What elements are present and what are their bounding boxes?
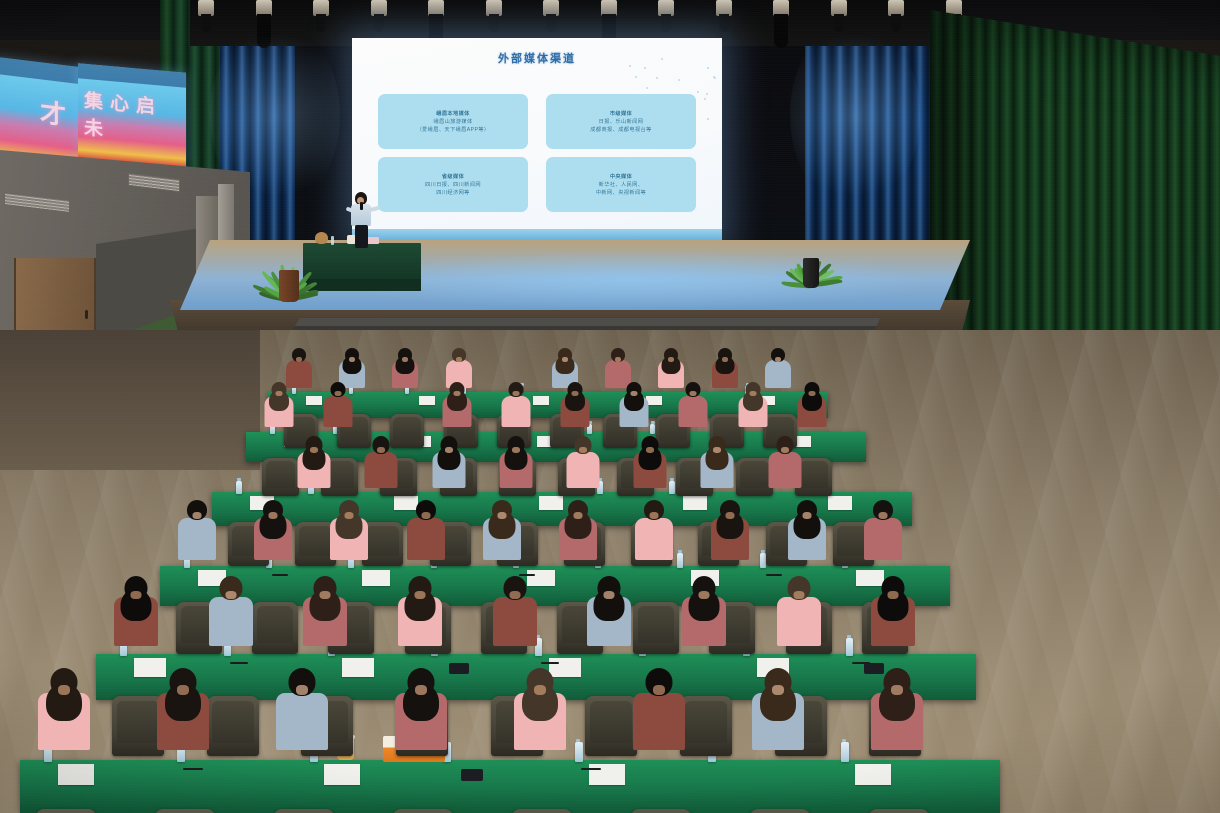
floor-shadow-left	[0, 330, 260, 470]
audience-member	[633, 668, 685, 750]
person-neck	[726, 512, 735, 519]
audience-member	[297, 436, 330, 488]
paper-sheet	[646, 396, 662, 405]
person-neck	[803, 512, 812, 519]
slide-box-line: 中央媒体	[610, 173, 632, 181]
slide-box-grid: 峨眉本地媒体峨眉山旅游媒体（爱峨眉、天下峨眉APP等）市级媒体日报、乐山新闻网成…	[378, 94, 696, 212]
person-neck	[562, 357, 568, 362]
banquet-chair	[274, 809, 334, 813]
stage-light	[599, 0, 619, 30]
person-neck	[193, 512, 202, 519]
banquet-chair	[207, 696, 259, 756]
slide-box-city-media: 市级媒体日报、乐山新闻网成都商报、成都电视台等	[546, 94, 696, 149]
stage-light	[714, 0, 734, 30]
slide-box-line: 峨眉本地媒体	[436, 110, 470, 118]
person-neck	[415, 685, 427, 695]
person-neck	[453, 391, 460, 396]
person-neck	[722, 357, 728, 362]
audience-member	[264, 382, 293, 427]
phone	[449, 663, 469, 674]
person-neck	[646, 447, 654, 453]
stage-light	[484, 0, 504, 30]
person-neck	[269, 512, 278, 519]
audience-member	[700, 436, 733, 488]
water-bottle	[236, 481, 242, 494]
banquet-chair	[362, 522, 403, 566]
audience-member	[738, 382, 767, 427]
audience-member	[276, 668, 328, 750]
audience-member	[364, 436, 397, 488]
conference-table	[20, 760, 1000, 813]
left-banner-screen-2: 集心启未	[78, 63, 186, 168]
banquet-chair	[512, 809, 572, 813]
person-neck	[310, 447, 318, 453]
paper-sheet	[683, 496, 707, 510]
slide-box-line: 四川经济网等	[436, 189, 470, 197]
person-neck	[296, 357, 302, 362]
person-neck	[772, 685, 784, 695]
audience-member	[38, 668, 90, 750]
audience-member	[864, 500, 902, 560]
person-torso	[864, 518, 902, 560]
person-torso	[493, 597, 537, 646]
slide-box-line: 日报、乐山新闻网	[599, 118, 644, 126]
banquet-chair	[393, 809, 453, 813]
water-bottle	[331, 236, 334, 245]
stage-light	[196, 0, 216, 30]
audience-member	[157, 668, 209, 750]
paper-sheet	[324, 764, 360, 785]
stage-light	[369, 0, 389, 30]
person-neck	[512, 447, 520, 453]
stage-light	[829, 0, 849, 30]
stage-light	[541, 0, 561, 30]
pen	[183, 768, 203, 770]
person-neck	[377, 447, 385, 453]
audience-member	[178, 500, 216, 560]
audience-member	[777, 576, 821, 646]
banquet-chair	[262, 458, 299, 496]
person-neck	[226, 591, 237, 599]
person-neck	[58, 685, 70, 695]
audience-member	[635, 500, 673, 560]
person-neck	[334, 391, 341, 396]
stage-light	[254, 0, 274, 30]
person-neck	[177, 685, 189, 695]
water-bottle	[650, 424, 655, 434]
table-skirt	[303, 279, 421, 291]
audience-member	[871, 668, 923, 750]
person-neck	[320, 591, 331, 599]
plant-pot	[803, 258, 819, 288]
person-neck	[498, 512, 507, 519]
person-torso	[768, 452, 801, 488]
person-torso	[678, 396, 707, 427]
person-torso	[633, 693, 685, 750]
person-neck	[512, 391, 519, 396]
water-bottle	[575, 742, 583, 762]
person-neck	[579, 447, 587, 453]
paper-sheet	[855, 764, 891, 785]
person-neck	[749, 391, 756, 396]
person-neck	[781, 447, 789, 453]
banquet-chair	[750, 809, 810, 813]
person-neck	[349, 357, 355, 362]
audience-member	[392, 348, 418, 388]
audience-member	[768, 436, 801, 488]
slide-box-line: 省级媒体	[442, 173, 464, 181]
stage-light	[771, 0, 791, 30]
slide-title: 外部媒体渠道	[352, 50, 722, 66]
person-neck	[808, 391, 815, 396]
conference-hall-photo: 外部媒体渠道 峨眉本地媒体峨眉山旅游媒体（爱峨眉、天下峨眉APP等）市级媒体日报…	[0, 0, 1220, 813]
audience-member	[432, 436, 465, 488]
presenter-legs	[355, 225, 368, 248]
person-neck	[630, 391, 637, 396]
person-neck	[775, 357, 781, 362]
conference-table	[160, 566, 950, 606]
slide-box-line: 成都商报、成都电视台等	[590, 126, 651, 134]
audience-member	[323, 382, 352, 427]
slide-box-line: 中新网、央视新闻等	[596, 189, 646, 197]
person-neck	[571, 391, 578, 396]
person-neck	[668, 357, 674, 362]
person-torso	[777, 597, 821, 646]
slide-box-local-media: 峨眉本地媒体峨眉山旅游媒体（爱峨眉、天下峨眉APP等）	[378, 94, 528, 149]
water-bottle	[846, 638, 853, 656]
person-torso	[178, 518, 216, 560]
banquet-chair	[36, 809, 96, 813]
person-neck	[456, 357, 462, 362]
audience-member	[501, 382, 530, 427]
audience-member	[483, 500, 521, 560]
person-neck	[275, 391, 282, 396]
person-torso	[566, 452, 599, 488]
person-torso	[635, 518, 673, 560]
audience-member	[788, 500, 826, 560]
person-torso	[364, 452, 397, 488]
audience-member	[711, 500, 749, 560]
audience-member	[797, 382, 826, 427]
audience-member	[398, 576, 442, 646]
paper-sheet	[362, 570, 390, 586]
banquet-chair	[631, 809, 691, 813]
audience-member	[619, 382, 648, 427]
potted-palm-right	[788, 222, 834, 288]
person-neck	[574, 512, 583, 519]
audience-member	[493, 576, 537, 646]
audience-member	[559, 500, 597, 560]
audience-member	[566, 436, 599, 488]
person-neck	[604, 591, 615, 599]
person-neck	[650, 512, 659, 519]
microphone	[360, 202, 363, 210]
presenter	[344, 192, 380, 248]
audience-member	[395, 668, 447, 750]
person-neck	[615, 357, 621, 362]
person-neck	[699, 591, 710, 599]
audience-member	[752, 668, 804, 750]
person-neck	[510, 591, 521, 599]
phone	[461, 769, 483, 781]
audience-member	[678, 382, 707, 427]
person-neck	[131, 591, 142, 599]
audience-member	[712, 348, 738, 388]
person-neck	[296, 685, 308, 695]
paper-sheet	[533, 396, 549, 405]
paper-sheet	[58, 764, 94, 785]
person-torso	[276, 693, 328, 750]
audience-member	[303, 576, 347, 646]
banquet-chair	[585, 696, 637, 756]
person-torso	[407, 518, 445, 560]
slide-box-central-media: 中央媒体新华社、人民网、中新网、央视新闻等	[546, 157, 696, 212]
slide-box-line: 新华社、人民网、	[599, 181, 644, 189]
audience-member	[254, 500, 292, 560]
person-neck	[345, 512, 354, 519]
person-torso	[501, 396, 530, 427]
stage-light	[886, 0, 906, 30]
paper-sheet	[419, 396, 435, 405]
person-neck	[534, 685, 546, 695]
slide-box-line: 市级媒体	[610, 110, 632, 118]
audience-member	[209, 576, 253, 646]
head-table	[303, 243, 421, 281]
stage-light	[311, 0, 331, 30]
audience-member	[499, 436, 532, 488]
slide-box-line: 四川日报、四川新闻网	[425, 181, 481, 189]
banquet-chair	[680, 696, 732, 756]
water-bottle	[841, 742, 849, 762]
pen	[230, 662, 248, 664]
audience-member	[633, 436, 666, 488]
audience-member	[587, 576, 631, 646]
audience-member	[114, 576, 158, 646]
projection-screen: 外部媒体渠道 峨眉本地媒体峨眉山旅游媒体（爱峨眉、天下峨眉APP等）市级媒体日报…	[352, 38, 722, 246]
pen	[541, 662, 559, 664]
audience-member	[765, 348, 791, 388]
banquet-chair	[869, 809, 929, 813]
person-torso	[209, 597, 253, 646]
person-neck	[653, 685, 665, 695]
aux-screen-topbar	[0, 56, 84, 85]
paper-sheet	[306, 396, 322, 405]
person-neck	[891, 685, 903, 695]
audience-member	[871, 576, 915, 646]
audience-member	[514, 668, 566, 750]
person-neck	[794, 591, 805, 599]
audience-member	[330, 500, 368, 560]
plant-pot	[279, 270, 299, 302]
door-handle[interactable]	[85, 310, 88, 319]
slide-box-line: 峨眉山旅游媒体	[433, 118, 472, 126]
stage-light	[426, 0, 446, 30]
person-neck	[888, 591, 899, 599]
audience-member	[407, 500, 445, 560]
banquet-chair	[252, 602, 298, 654]
water-bottle	[677, 553, 683, 568]
paper-sheet	[828, 496, 852, 510]
person-neck	[415, 591, 426, 599]
person-neck	[422, 512, 431, 519]
aux-screen-glyph: 才	[40, 92, 66, 132]
pen	[581, 768, 601, 770]
banquet-chair	[633, 602, 679, 654]
decor-object	[315, 232, 328, 244]
person-neck	[402, 357, 408, 362]
slide-box-line: （爱峨眉、天下峨眉APP等）	[416, 126, 489, 134]
water-bottle	[669, 481, 675, 494]
stage-light	[656, 0, 676, 30]
audience-member	[682, 576, 726, 646]
banquet-chair	[155, 809, 215, 813]
paper-sheet	[342, 658, 374, 677]
audience-member	[442, 382, 471, 427]
aux-screen-glyph: 集心启未	[84, 86, 186, 149]
pen	[272, 574, 288, 576]
person-neck	[713, 447, 721, 453]
person-neck	[689, 391, 696, 396]
person-torso	[765, 360, 791, 388]
audience-member	[560, 382, 589, 427]
person-neck	[879, 512, 888, 519]
person-neck	[445, 447, 453, 453]
person-torso	[323, 396, 352, 427]
slide-box-provincial-media: 省级媒体四川日报、四川新闻网四川经济网等	[378, 157, 528, 212]
potted-palm-left	[262, 228, 316, 302]
